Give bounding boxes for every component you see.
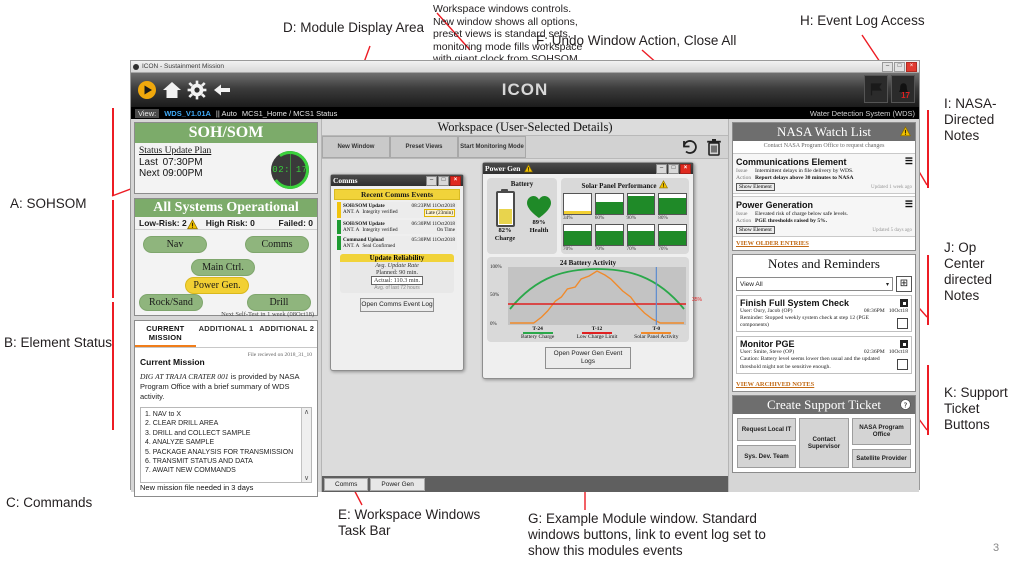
- list-item[interactable]: Command Upload05:30PM 11Oct2018 ANT. ASe…: [337, 236, 457, 250]
- powergen-module-window[interactable]: Power Gen – □ × Battery: [482, 162, 694, 379]
- notes-filter-value: View All: [740, 281, 763, 288]
- support-ticket-header: Create Support Ticket ?: [733, 396, 915, 414]
- event-log-access: 17: [864, 75, 915, 103]
- annotation-d: D: Module Display Area: [283, 20, 424, 36]
- mission-steps-list[interactable]: 1. NAV to X 2. CLEAR DRILL AREA 3. DRILL…: [140, 407, 312, 483]
- bracket-j: [927, 255, 929, 325]
- gear-icon[interactable]: [187, 80, 207, 100]
- battery-charge-value: 82%: [489, 227, 521, 235]
- sys-dev-team-button[interactable]: Sys. Dev. Team: [737, 445, 796, 468]
- note-date: 10Oct18: [889, 308, 908, 314]
- low-risk-count: Low-Risk: 2: [139, 218, 187, 228]
- solar-panel-cell[interactable]: 70%: [627, 224, 656, 252]
- powergen-minimize-button[interactable]: –: [656, 164, 667, 174]
- warning-triangle-icon: [524, 160, 533, 178]
- view-label: View:: [135, 109, 159, 118]
- hamburger-menu-icon[interactable]: ☰: [905, 199, 912, 210]
- solar-panel-value: 80%: [658, 215, 687, 221]
- start-monitoring-mode-button[interactable]: Start Monitoring Mode: [458, 136, 526, 158]
- battery-health-label: Health: [523, 227, 555, 235]
- battery-health-value: 89%: [523, 219, 555, 227]
- element-nav[interactable]: Nav: [143, 236, 207, 253]
- self-test-note: Next Self-Test in 1 week (08Oct18): [221, 311, 314, 318]
- reliability-note: Avg. of last 72 hours: [340, 285, 454, 293]
- workspace-header: Workspace (User-Selected Details): [322, 119, 728, 135]
- x-axis-tick: T-24: [508, 326, 567, 332]
- solar-panel-value: 60%: [595, 215, 624, 221]
- note-title: Monitor PGE: [740, 339, 795, 349]
- bracket-k: [927, 365, 929, 435]
- solar-panel-value: 70%: [563, 246, 592, 252]
- app-icon: [133, 64, 139, 70]
- note-checkbox[interactable]: [897, 318, 908, 329]
- x-axis-tick: T-0: [627, 326, 686, 332]
- watch-list-title: NASA Watch List: [777, 124, 871, 139]
- annotation-a: A: SOHSOM: [10, 196, 87, 212]
- note-checkbox[interactable]: [897, 359, 908, 370]
- list-item: 5. PACKAGE ANALYSIS FOR TRANSMISSION: [145, 448, 311, 457]
- list-item: 7. AWAIT NEW COMMANDS: [145, 466, 311, 475]
- event-detail: Integrity verified: [362, 209, 397, 217]
- update-reliability-card: Update Reliability Avg. Update Rate Plan…: [340, 254, 454, 293]
- commands-panel: CURRENT MISSION ADDITIONAL 1 ADDITIONAL …: [134, 320, 318, 497]
- banner-title: ICON: [131, 80, 919, 100]
- event-antenna: ANT. A: [343, 243, 359, 249]
- issue-text: Elevated risk of charge below safe level…: [755, 211, 848, 217]
- watch-list-header: NASA Watch List: [733, 123, 915, 141]
- table-row: Last 07:30PM: [139, 157, 206, 168]
- system-name: Water Detection System (WDS): [810, 109, 915, 118]
- battery-charge-label: Charge: [489, 235, 521, 243]
- chart-plot-area: 100% 50% 0% 35%: [508, 267, 686, 325]
- home-icon[interactable]: [162, 80, 182, 100]
- solar-panel-cell[interactable]: 70%: [595, 224, 624, 252]
- countdown-clock-wrap: 02: 17: [267, 146, 313, 194]
- bracket-c: [112, 302, 114, 430]
- solar-panel-cell[interactable]: 34%: [563, 193, 592, 221]
- update-reliability-title: Update Reliability: [340, 254, 454, 262]
- back-arrow-icon[interactable]: [212, 80, 232, 100]
- solar-panel-value: 70%: [627, 246, 656, 252]
- app-banner: ICON 17: [131, 73, 919, 107]
- warning-triangle-icon: [659, 180, 668, 191]
- element-power-gen[interactable]: Power Gen.: [185, 277, 249, 294]
- close-button[interactable]: ×: [906, 62, 917, 72]
- annotation-j: J: Op Center directed Notes: [944, 240, 1020, 304]
- nasa-watch-list-panel: NASA Watch List Contact NASA Program Off…: [732, 122, 916, 251]
- solar-panel-card: Solar Panel Performance 34% 60% 90%: [561, 178, 689, 254]
- bracket-b: [112, 200, 114, 298]
- scroll-up-arrow-icon[interactable]: ∧: [304, 408, 309, 416]
- solar-panel-cell[interactable]: 80%: [658, 193, 687, 221]
- show-element-button[interactable]: Show Element: [736, 183, 775, 191]
- file-received-meta: File recieved on 2018_31_10: [248, 352, 312, 358]
- action-text: Report delays above 30 minutes to NASA: [755, 175, 854, 181]
- last-update-label: Last: [139, 157, 163, 168]
- annotation-f: F: Undo Window Action, Close All: [536, 33, 736, 49]
- notes-and-reminders-panel: Notes and Reminders View All ▾ ⊞ Finish …: [732, 254, 916, 392]
- chevron-down-icon: ▾: [886, 281, 889, 288]
- solar-panel-cell[interactable]: 90%: [627, 193, 656, 221]
- list-item: 4. ANALYZE SAMPLE: [145, 438, 311, 447]
- powergen-close-button[interactable]: ×: [680, 164, 691, 174]
- list-item: 2. CLEAR DRILL AREA: [145, 419, 311, 428]
- chart-legend: T-24Battery Charge T-12Low Charge Limit …: [508, 326, 686, 340]
- battery-gauge: [496, 191, 515, 227]
- chart-title: 24 Battery Activity: [490, 259, 686, 267]
- nasa-program-office-button[interactable]: NASA Program Office: [852, 418, 911, 445]
- avg-update-rate-label: Avg. Update Rate: [340, 262, 454, 269]
- last-update-time: 07:30PM: [163, 157, 206, 168]
- contact-supervisor-button[interactable]: Contact Supervisor: [799, 418, 849, 469]
- y-axis-tick-100: 100%: [490, 265, 502, 270]
- battery-title: Battery: [489, 180, 555, 188]
- battery-activity-chart: 24 Battery Activity 100% 50% 0%: [487, 257, 689, 342]
- next-update-label: Next: [139, 168, 163, 179]
- element-comms[interactable]: Comms: [245, 236, 309, 253]
- commands-tabs: CURRENT MISSION ADDITIONAL 1 ADDITIONAL …: [135, 321, 317, 348]
- note-user: User: Oury, Jacob (OP): [740, 308, 792, 314]
- note-body: Caution: Battery level seems lower then …: [740, 356, 894, 370]
- bell-badge: 17: [901, 91, 910, 100]
- question-mark-icon[interactable]: ?: [900, 398, 911, 414]
- app-body: SOH/SOM Status Update Plan Last 07:30PM …: [131, 119, 919, 492]
- y-axis-tick-50: 50%: [490, 293, 499, 298]
- tab-additional-1[interactable]: ADDITIONAL 1: [196, 321, 257, 347]
- open-powergen-event-log-button[interactable]: Open Power Gen Event Logs: [545, 347, 631, 369]
- workspace: Workspace (User-Selected Details) New Wi…: [321, 119, 729, 492]
- flag-icon[interactable]: [864, 75, 888, 103]
- workspace-toolbar: New Window Preset Views Start Monitoring…: [322, 135, 728, 159]
- comms-window-title: Comms: [333, 176, 358, 185]
- bracket-a: [112, 108, 114, 196]
- event-antenna: ANT. A: [343, 227, 359, 233]
- comms-minimize-button[interactable]: –: [426, 176, 437, 186]
- event-antenna: ANT. A: [343, 209, 359, 217]
- annotation-c: C: Commands: [6, 495, 92, 511]
- request-local-it-button[interactable]: Request Local IT: [737, 418, 796, 441]
- current-mission-title: Current Mission: [140, 357, 205, 367]
- updated-time: Updated 1 week ago: [871, 185, 912, 190]
- tab-current-mission[interactable]: CURRENT MISSION: [135, 321, 196, 347]
- note-date: 10Oct18: [889, 349, 908, 355]
- view-mode: || Auto: [216, 109, 237, 118]
- solar-panel-cell[interactable]: 60%: [595, 193, 624, 221]
- next-update-time: 09:00PM: [163, 168, 206, 179]
- actual-rate: Actual: 110.3 min.: [371, 276, 423, 285]
- view-status-bar: View: WDS_V1.01A || Auto MCS1_Home / MCS…: [131, 107, 919, 119]
- watch-list-subnote: Contact NASA Program Office to request c…: [733, 141, 915, 151]
- mission-file-footer: New mission file needed in 3 days: [140, 483, 312, 492]
- powergen-title-bar[interactable]: Power Gen – □ ×: [483, 163, 693, 174]
- bracket-i: [927, 110, 929, 188]
- note-menu-icon[interactable]: [900, 299, 908, 307]
- action-key: Action: [736, 218, 752, 224]
- element-rock-sand[interactable]: Rock/Sand: [139, 294, 203, 311]
- comms-module-window[interactable]: Comms – □ × Recent Comms Events SOH/SO: [330, 174, 464, 371]
- preset-views-button[interactable]: Preset Views: [390, 136, 458, 158]
- note-menu-icon[interactable]: [900, 340, 908, 348]
- recent-comms-events-header: Recent Comms Events: [334, 189, 460, 200]
- legend-label: Battery Charge: [508, 334, 567, 340]
- x-axis-tick: T-12: [567, 326, 626, 332]
- list-item[interactable]: Monitor PGE User: Smite, Steve (OP)02:36…: [736, 336, 912, 373]
- legend-item: T-0Solar Panel Activity: [627, 326, 686, 340]
- element-main-ctrl[interactable]: Main Ctrl.: [191, 259, 255, 276]
- updated-time: Updated 5 days ago: [872, 228, 912, 233]
- trash-icon[interactable]: [704, 137, 724, 157]
- right-column: NASA Watch List Contact NASA Program Off…: [729, 119, 919, 492]
- open-comms-event-log-button[interactable]: Open Comms Event Log: [360, 298, 434, 312]
- support-ticket-title: Create Support Ticket: [767, 397, 881, 412]
- note-title: Finish Full System Check: [740, 298, 849, 308]
- notes-header: Notes and Reminders: [733, 255, 915, 273]
- minimize-button[interactable]: –: [882, 62, 893, 72]
- low-charge-limit-value: 35%: [692, 297, 702, 303]
- issue-text: Intermittent delays in file delivery by …: [755, 168, 854, 174]
- solar-panel-value: 70%: [658, 246, 687, 252]
- legend-label: Low Charge Limit: [567, 334, 626, 340]
- element-drill[interactable]: Drill: [247, 294, 311, 311]
- view-older-entries-link[interactable]: VIEW OLDER ENTRIES: [733, 237, 915, 250]
- list-item[interactable]: Communications Element☰ IssueIntermitten…: [733, 153, 915, 194]
- solar-panel-value: 90%: [627, 215, 656, 221]
- solar-panel-title: Solar Panel Performance: [563, 180, 687, 191]
- page-number: 3: [993, 540, 999, 556]
- issue-key: Issue: [736, 211, 752, 217]
- action-text: PGE thresholds raised by 5%.: [755, 218, 827, 224]
- comms-title-bar[interactable]: Comms – □ ×: [331, 175, 463, 186]
- annotation-k: K: Support Ticket Buttons: [944, 385, 1014, 433]
- action-key: Action: [736, 175, 752, 181]
- event-status: Late (23min): [424, 209, 455, 217]
- maximize-button[interactable]: □: [894, 62, 905, 72]
- workspace-taskbar: Comms Power Gen: [322, 476, 728, 492]
- view-value[interactable]: WDS_V1.01A: [164, 109, 211, 118]
- comms-maximize-button[interactable]: □: [438, 176, 449, 186]
- application-window: ICON - Sustainment Mission – □ × ICON: [130, 60, 920, 490]
- element-status-panel: All Systems Operational Low-Risk: 2 High…: [134, 198, 318, 316]
- watch-entry-title: Communications Element: [736, 157, 847, 167]
- note-body: Reminder: Stopped weekly system check at…: [740, 315, 894, 329]
- event-detail: Integrity verified: [362, 227, 397, 233]
- list-item: 3. DRILL and COLLECT SAMPLE: [145, 429, 311, 438]
- hamburger-menu-icon[interactable]: ☰: [905, 156, 912, 167]
- event-status: On Time: [437, 227, 455, 233]
- table-row: Next 09:00PM: [139, 168, 206, 179]
- event-detail: Seal Confirmed: [362, 243, 395, 249]
- svg-text:?: ?: [904, 400, 908, 409]
- note-time: 02:36PM: [864, 349, 885, 355]
- heart-icon: [526, 195, 552, 219]
- list-item[interactable]: Finish Full System Check User: Oury, Jac…: [736, 295, 912, 332]
- warning-triangle-icon: [900, 125, 911, 141]
- powergen-window-title: Power Gen: [485, 164, 520, 173]
- solar-panel-cell[interactable]: 70%: [658, 224, 687, 252]
- annotation-i: I: NASA-Directed Notes: [944, 96, 1014, 144]
- taskbar-item-comms[interactable]: Comms: [324, 478, 368, 491]
- risk-summary-row: Low-Risk: 2 High Risk: 0 Failed: 0: [135, 217, 317, 230]
- create-support-ticket-panel: Create Support Ticket ? Request Local IT…: [732, 395, 916, 474]
- list-item[interactable]: Power Generation☰ IssueElevated risk of …: [733, 196, 915, 237]
- os-title-bar: ICON - Sustainment Mission – □ ×: [131, 61, 919, 73]
- status-update-plan: Status Update Plan Last 07:30PM Next 09:…: [139, 146, 267, 194]
- tab-additional-2[interactable]: ADDITIONAL 2: [256, 321, 317, 347]
- mission-description: DIG AT TRAJA CRATER 001 is provided by N…: [140, 372, 312, 402]
- taskbar-item-powergen[interactable]: Power Gen: [370, 478, 425, 491]
- issue-key: Issue: [736, 168, 752, 174]
- sohsom-panel: SOH/SOM Status Update Plan Last 07:30PM …: [134, 122, 318, 194]
- satellite-provider-button[interactable]: Satellite Provider: [852, 449, 911, 469]
- failed-count: Failed: 0: [279, 218, 313, 228]
- y-axis-tick-0: 0%: [490, 322, 497, 327]
- planned-rate: Planned: 90 min.: [340, 269, 454, 276]
- window-controls: – □ ×: [882, 62, 917, 72]
- list-item[interactable]: SOH/SOM Update06:30PM 11Oct2018 ANT. AIn…: [337, 220, 457, 234]
- battery-card: Battery 82% Charge: [487, 178, 557, 254]
- note-user: User: Smite, Steve (OP): [740, 349, 794, 355]
- list-item: 6. TRANSMIT STATUS AND DATA: [145, 457, 311, 466]
- annotation-g: G: Example Module window. Standard windo…: [528, 511, 798, 559]
- warning-triangle-icon: [187, 219, 196, 228]
- show-element-button[interactable]: Show Element: [736, 226, 775, 234]
- breadcrumb: MCS1_Home / MCS1 Status: [242, 109, 337, 118]
- battery-fill: [499, 209, 512, 224]
- note-time: 08:36PM: [864, 308, 885, 314]
- notes-filter-select[interactable]: View All ▾: [736, 277, 893, 291]
- countdown-clock: 02: 17: [271, 151, 309, 189]
- element-status-header: All Systems Operational: [135, 199, 317, 217]
- high-risk-count: High Risk: 0: [206, 218, 255, 228]
- legend-label: Solar Panel Activity: [627, 334, 686, 340]
- comms-close-button[interactable]: ×: [450, 176, 461, 186]
- bell-icon[interactable]: 17: [891, 75, 915, 103]
- nav-icon-bar: [131, 80, 232, 100]
- sohsom-header: SOH/SOM: [135, 123, 317, 143]
- powergen-maximize-button[interactable]: □: [668, 164, 679, 174]
- mission-name: DIG AT TRAJA CRATER 001: [140, 372, 229, 381]
- app-title: ICON - Sustainment Mission: [142, 63, 224, 70]
- solar-panel-value: 70%: [595, 246, 624, 252]
- new-window-button[interactable]: New Window: [322, 136, 390, 158]
- list-item[interactable]: SOH/SOM Update08:23PM 11Oct2018 ANT. AIn…: [337, 202, 457, 218]
- workspace-canvas: Comms – □ × Recent Comms Events SOH/SO: [322, 159, 728, 476]
- solar-panel-cell[interactable]: 70%: [563, 224, 592, 252]
- annotation-e: E: Workspace Windows Task Bar: [338, 507, 503, 539]
- scrollbar[interactable]: ∧ ∨: [301, 408, 311, 482]
- view-archived-notes-link[interactable]: VIEW ARCHIVED NOTES: [733, 378, 915, 391]
- scroll-down-arrow-icon[interactable]: ∨: [304, 474, 309, 482]
- left-column: SOH/SOM Status Update Plan Last 07:30PM …: [131, 119, 321, 492]
- undo-icon[interactable]: [680, 137, 700, 157]
- annotation-h: H: Event Log Access: [800, 13, 925, 29]
- list-item: 1. NAV to X: [145, 410, 311, 419]
- legend-item: T-24Battery Charge: [508, 326, 567, 340]
- legend-item: T-12Low Charge Limit: [567, 326, 626, 340]
- solar-panel-title-text: Solar Panel Performance: [582, 182, 657, 190]
- solar-panel-value: 34%: [563, 215, 592, 221]
- element-diagram: Nav Comms Main Ctrl. Power Gen. Rock/San…: [135, 230, 317, 318]
- status-update-plan-label: Status Update Plan: [139, 146, 267, 156]
- add-note-icon[interactable]: ⊞: [896, 276, 912, 292]
- watch-entry-title: Power Generation: [736, 200, 813, 210]
- play-icon[interactable]: [137, 80, 157, 100]
- annotation-b: B: Element Status: [4, 335, 112, 351]
- clock-center-line: [290, 153, 291, 187]
